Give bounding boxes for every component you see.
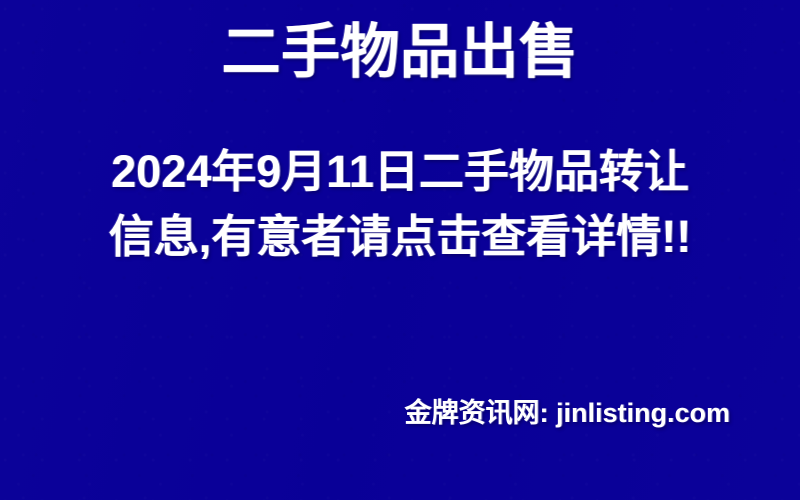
footer-block: 金牌资讯网: jinlisting.com [404,398,730,430]
title-block: 二手物品出售 [0,22,800,82]
body-block: 2024年9月11日二手物品转让 信息,有意者请点击查看详情!! [0,140,800,270]
page-title: 二手物品出售 [221,22,578,82]
site-credit: 金牌资讯网: jinlisting.com [404,398,730,430]
body-line-1: 2024年9月11日二手物品转让 [0,140,800,205]
body-line-2: 信息,有意者请点击查看详情!! [0,205,800,270]
promo-poster: 二手物品出售 2024年9月11日二手物品转让 信息,有意者请点击查看详情!! … [0,0,800,500]
